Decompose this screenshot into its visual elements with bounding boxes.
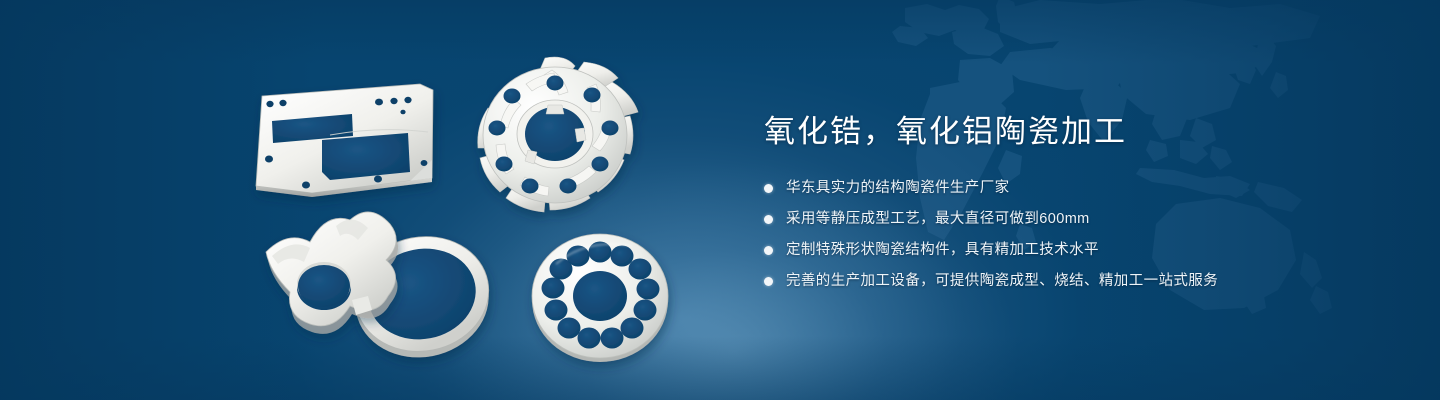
bullet-dot-icon [764,184,773,193]
bullet-dot-icon [764,215,773,224]
ceramic-impeller-disc [478,57,638,212]
ceramic-flat-plate [256,84,433,197]
banner-copy: 氧化锆，氧化铝陶瓷加工 华东具实力的结构陶瓷件生产厂家 采用等静压成型工艺，最大… [764,112,1384,308]
list-item: 完善的生产加工设备，可提供陶瓷成型、烧结、精加工一站式服务 [764,270,1384,292]
list-item: 定制特殊形状陶瓷结构件，具有精加工技术水平 [764,239,1384,261]
list-item: 采用等静压成型工艺，最大直径可做到600mm [764,208,1384,230]
list-item-label: 采用等静压成型工艺，最大直径可做到600mm [786,209,1090,229]
list-item: 华东具实力的结构陶瓷件生产厂家 [764,177,1384,199]
ceramic-products-group [0,0,720,400]
list-item-label: 完善的生产加工设备，可提供陶瓷成型、烧结、精加工一站式服务 [786,271,1218,291]
feature-list: 华东具实力的结构陶瓷件生产厂家 采用等静压成型工艺，最大直径可做到600mm 定… [764,177,1384,292]
ceramic-perforated-disc [532,234,668,362]
list-item-label: 华东具实力的结构陶瓷件生产厂家 [786,178,1010,198]
ceramic-cross-plate [266,212,398,334]
bullet-dot-icon [764,246,773,255]
ceramic-processing-banner: 氧化锆，氧化铝陶瓷加工 华东具实力的结构陶瓷件生产厂家 采用等静压成型工艺，最大… [0,0,1440,400]
bullet-dot-icon [764,277,773,286]
list-item-label: 定制特殊形状陶瓷结构件，具有精加工技术水平 [786,240,1099,260]
page-title: 氧化锆，氧化铝陶瓷加工 [764,112,1384,152]
